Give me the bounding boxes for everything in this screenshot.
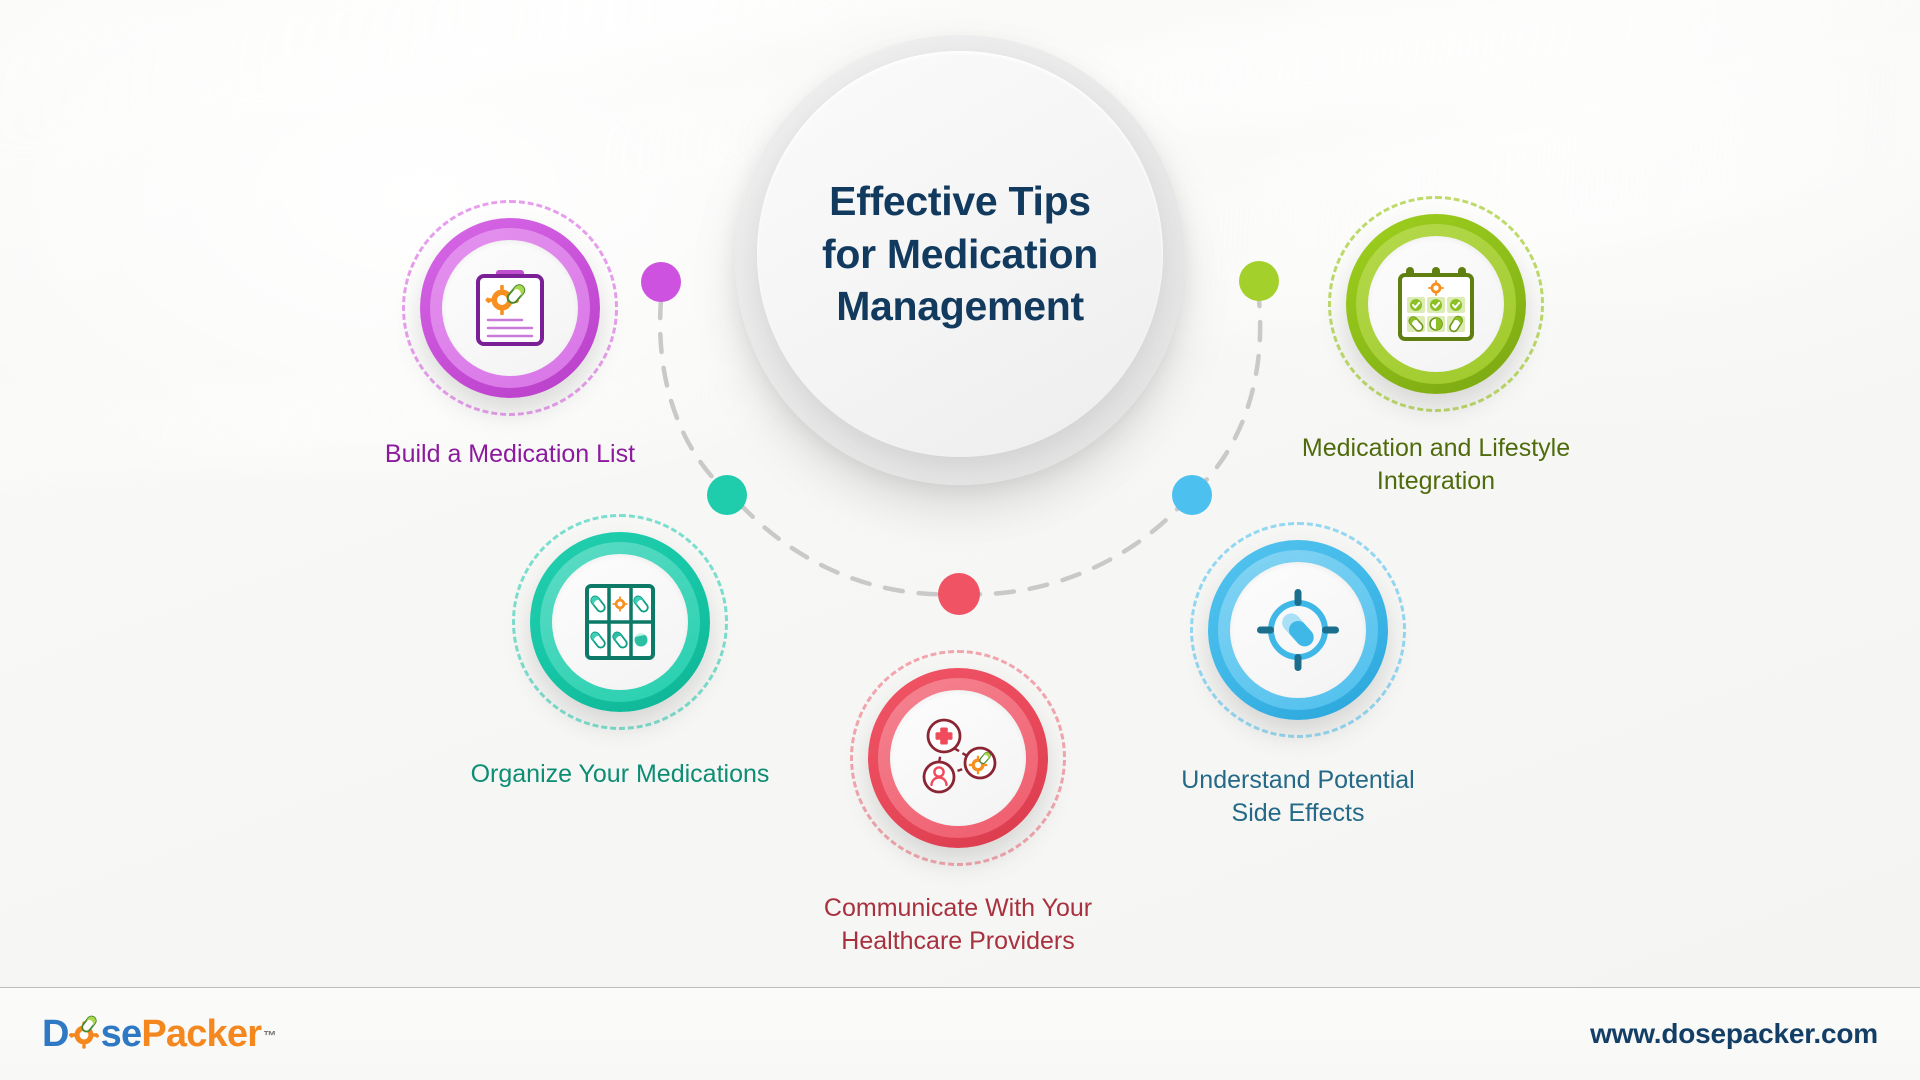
path-dot-teal	[707, 475, 747, 515]
logo-wordmark: D	[42, 1011, 275, 1058]
clipboard-pill-icon	[472, 268, 548, 348]
provider-network-icon	[916, 718, 1000, 798]
infographic-canvas: Effective Tips for Medication Management	[0, 0, 1920, 1080]
icon-well	[1368, 236, 1504, 372]
website-url[interactable]: www.dosepacker.com	[1590, 1018, 1878, 1050]
node-label-understand-side-effects: Understand Potential Side Effects	[1088, 764, 1508, 830]
path-dot-purple	[641, 262, 681, 302]
logo-text-part-one: D	[42, 1015, 69, 1053]
node-label-medication-lifestyle-integration: Medication and Lifestyle Integration	[1226, 432, 1646, 498]
logo-text-part-three: Packer	[141, 1015, 261, 1053]
calendar-checklist-icon	[1395, 264, 1477, 344]
center-hub-inner: Effective Tips for Medication Management	[757, 51, 1163, 457]
pill-organizer-icon	[583, 582, 657, 662]
icon-well	[1230, 562, 1366, 698]
page-title: Effective Tips for Medication Management	[788, 175, 1132, 332]
path-dot-green	[1239, 261, 1279, 301]
node-label-build-medication-list: Build a Medication List	[300, 438, 720, 471]
path-dot-red	[938, 573, 980, 615]
icon-well	[442, 240, 578, 376]
node-label-communicate-with-providers: Communicate With Your Healthcare Provide…	[748, 892, 1168, 958]
logo-text-part-two: se	[101, 1015, 142, 1053]
logo-gear-capsule-icon	[68, 1011, 102, 1058]
center-hub: Effective Tips for Medication Management	[735, 35, 1185, 485]
path-dot-blue	[1172, 475, 1212, 515]
background-sheen	[520, 0, 1920, 207]
icon-well	[890, 690, 1026, 826]
dosepacker-logo[interactable]: D	[42, 1011, 275, 1058]
icon-well	[552, 554, 688, 690]
background-sheen	[0, 345, 802, 495]
logo-trademark: ™	[263, 1029, 275, 1042]
node-label-organize-your-medications: Organize Your Medications	[410, 758, 830, 791]
target-pill-icon	[1253, 585, 1343, 675]
footer-bar: D	[0, 987, 1920, 1080]
background-sheen	[0, 0, 1380, 177]
